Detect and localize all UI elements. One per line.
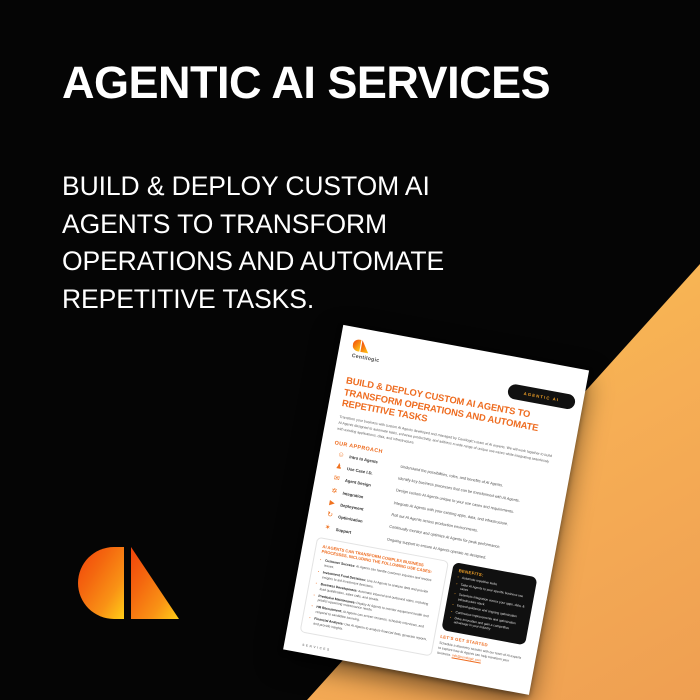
flyer-right-column: BENEFITS: Automate repetitive tasks Tail… xyxy=(437,562,538,673)
flyer-logomark-icon xyxy=(352,338,371,354)
benefits-panel: BENEFITS: Automate repetitive tasks Tail… xyxy=(442,562,538,645)
flyer-footer: SERVICES xyxy=(302,643,331,652)
use-cases-panel: AI AGENTS CAN TRANSFORM COMPLEX BUSINESS… xyxy=(300,537,450,657)
hero-subtitle: BUILD & DEPLOY CUSTOM AI AGENTS TO TRANS… xyxy=(62,105,532,319)
hero-block: AGENTIC AI SERVICES BUILD & DEPLOY CUSTO… xyxy=(62,60,622,319)
flyer-logo-name: Centilogic xyxy=(350,353,380,364)
page-title: AGENTIC AI SERVICES xyxy=(62,60,622,105)
promo-slide: AGENTIC AI SERVICES BUILD & DEPLOY CUSTO… xyxy=(0,0,700,700)
centilogic-logomark-icon xyxy=(78,547,181,619)
